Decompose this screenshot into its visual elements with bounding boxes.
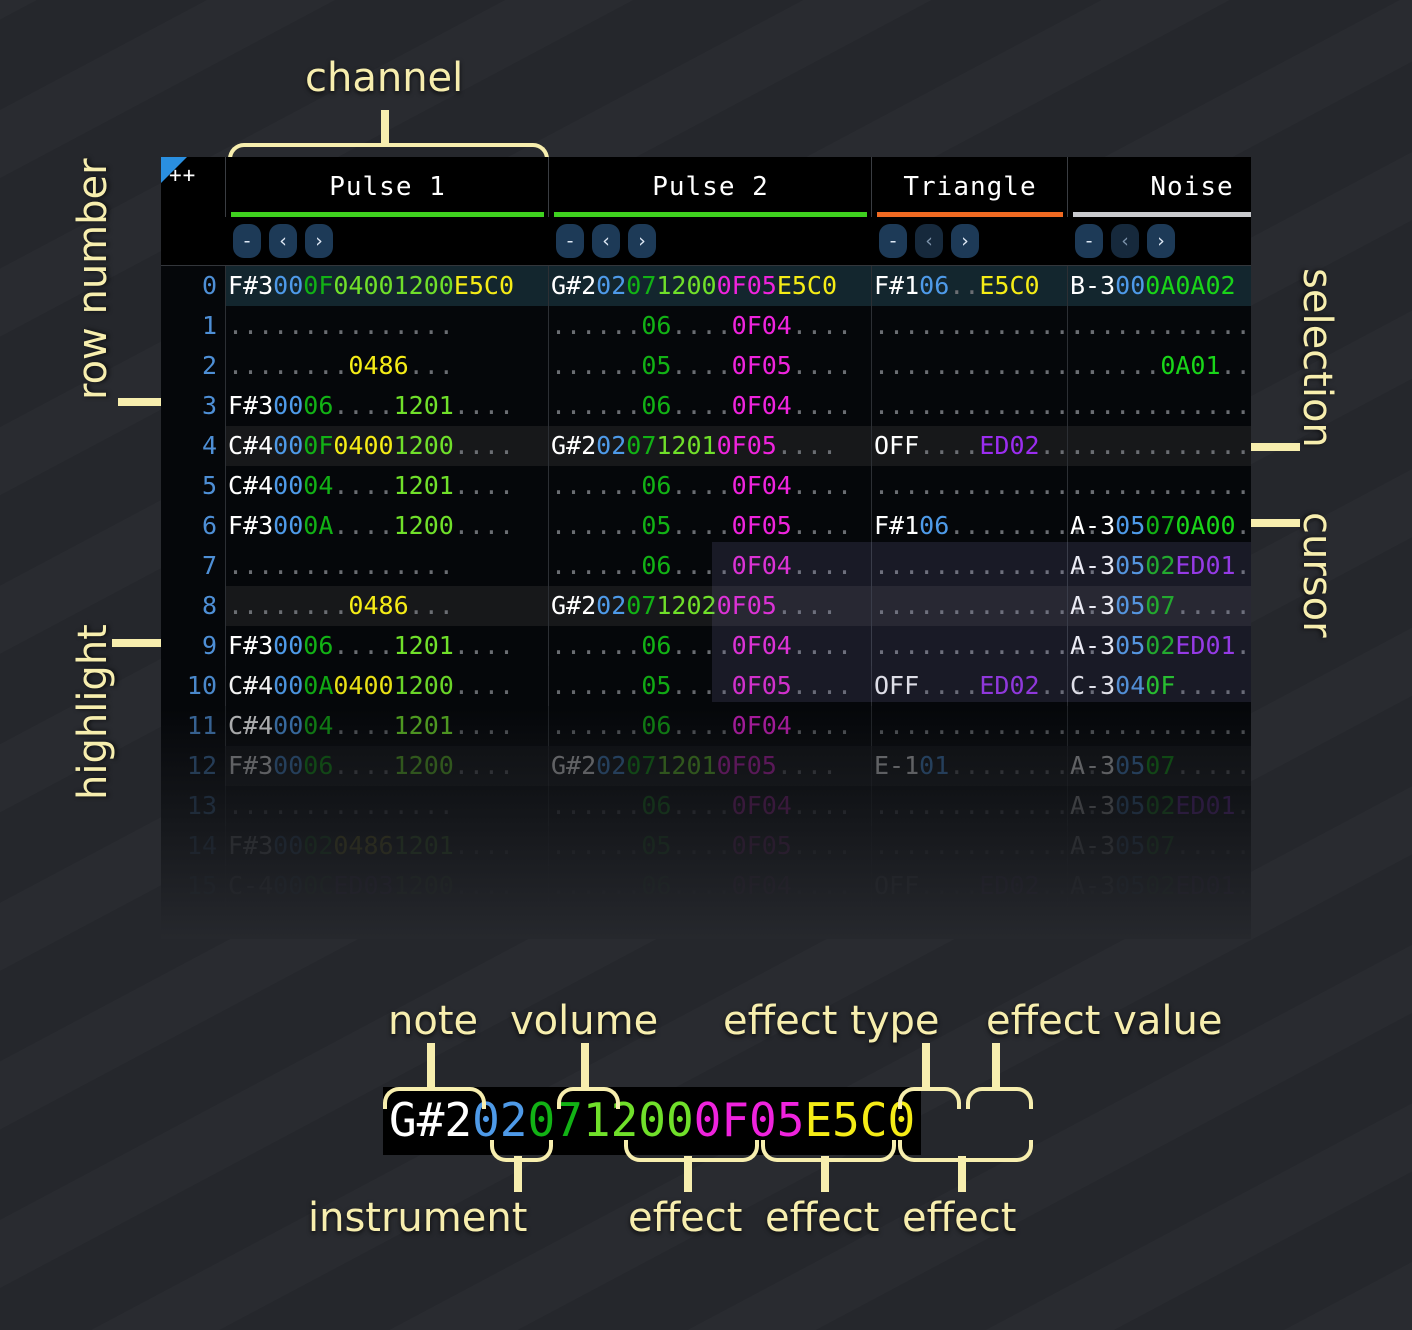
legend-leader-effect1 [684, 1156, 692, 1192]
pattern-cell[interactable]: C-4000CED031200.... [225, 866, 548, 906]
cell-token-dot: .. [1236, 791, 1251, 820]
table-row[interactable]: 0F#3000F04001200E5C0G#2020712000F05E5C0F… [161, 266, 1251, 306]
row-cells: ........0486.........05....0F05.........… [225, 346, 1251, 386]
pattern-cell[interactable]: F#30006....1201.... [225, 386, 548, 426]
cell-token-dot: .... [792, 351, 852, 380]
table-row[interactable]: 1.....................06....0F04........… [161, 306, 1251, 346]
mute-button[interactable]: - [233, 224, 261, 258]
cell-token-vol: 06 [641, 311, 671, 340]
cell-token-dot: ...... [551, 551, 641, 580]
pattern-cell[interactable]: C#40004....1201.... [225, 466, 548, 506]
cell-token-vol: 06 [303, 391, 333, 420]
cell-token-dot: ...... [551, 311, 641, 340]
pattern-cell[interactable]: ......06....0F04.... [548, 386, 871, 426]
channel-name: Noise [1150, 172, 1233, 202]
channel-controls-pulse-1: -‹› [233, 219, 333, 263]
cell-token-inst: 05 [1115, 591, 1145, 620]
legend-leader-effect3 [958, 1156, 966, 1192]
pattern-cell[interactable]: ............... [1067, 306, 1251, 346]
row-cells: F#3000A....1200..........05....0F05....F… [225, 506, 1251, 546]
next-button[interactable]: › [951, 224, 979, 258]
pattern-cell[interactable]: ......05....0F05.... [548, 346, 871, 386]
cell-token-inst: 00 [273, 871, 303, 900]
cell-token-fx3: 0400 [333, 431, 393, 460]
pattern-cell[interactable]: ............... [871, 466, 1067, 506]
pattern-cell[interactable]: A-30507...... [1067, 826, 1251, 866]
pattern-cell[interactable]: ......06....0F04.... [548, 546, 871, 586]
row-cells: C#4000A04001200..........05....0F05....O… [225, 666, 1251, 706]
cell-token-inst: 05 [1115, 511, 1145, 540]
channel-name: Triangle [903, 172, 1036, 202]
cell-token-dot: .... [333, 471, 393, 500]
pattern-cell[interactable]: G#2020712010F05.... [548, 746, 871, 786]
pattern-cell[interactable]: A-30502ED01.. [1067, 786, 1251, 826]
cell-token-dot: .... [919, 671, 979, 700]
cell-token-note: A-3 [1070, 751, 1115, 780]
cell-token-inst: 00 [273, 711, 303, 740]
mute-button[interactable]: - [556, 224, 584, 258]
legend-brace-effect-value [966, 1087, 1033, 1109]
cell-token-dot: ...... [551, 391, 641, 420]
cell-token-vol: 0F [303, 271, 333, 300]
prev-button[interactable]: ‹ [1111, 224, 1139, 258]
cell-token-dot: .... [792, 471, 852, 500]
cell-token-vol: 04 [303, 711, 333, 740]
channel-header-pulse-2[interactable]: Pulse 2 [548, 157, 872, 217]
cell-token-dot: .... [333, 391, 393, 420]
cell-token-vol: 05 [641, 671, 671, 700]
annotation-selection: selection [1294, 268, 1340, 448]
pattern-cell[interactable]: ............... [871, 346, 1067, 386]
table-row[interactable]: 5C#40004....1201..........06....0F04....… [161, 466, 1251, 506]
cell-token-vol: 07 [626, 431, 656, 460]
cell-token-fx3: 0400 [333, 671, 393, 700]
table-row[interactable]: 15C-4000CED031200..........06....0F04...… [161, 866, 1251, 906]
cell-token-vol: 02 [1145, 631, 1175, 660]
row-cells: F#30006....1200....G#2020712010F05....E-… [225, 746, 1251, 786]
cell-token-fx1: 1201 [394, 711, 454, 740]
legend-label-instrument: instrument [308, 1195, 527, 1241]
cell-token-dot: .. [1236, 511, 1251, 540]
cell-token-fx2: 0F05 [717, 431, 777, 460]
table-row[interactable]: 3F#30006....1201..........06....0F04....… [161, 386, 1251, 426]
cell-token-fx2: 0F04 [732, 551, 792, 580]
cell-token-note: C-4 [228, 871, 273, 900]
pattern-cell[interactable]: ............... [871, 546, 1067, 586]
cell-token-dot: ........ [228, 351, 348, 380]
channel-name: Pulse 1 [329, 172, 446, 202]
cell-token-note: G#2 [551, 431, 596, 460]
pattern-cell[interactable]: ......06....0F04.... [548, 706, 871, 746]
pattern-cell[interactable]: E-101.......... [871, 746, 1067, 786]
pattern-cell[interactable]: ......06....0F04.... [548, 786, 871, 826]
annotation-highlight: highlight [70, 624, 116, 800]
cell-token-inst: 05 [1115, 751, 1145, 780]
pattern-cell[interactable]: ............... [871, 386, 1067, 426]
cell-token-dot: ............... [874, 311, 1100, 340]
cell-token-fx2: 0F05 [732, 351, 792, 380]
cell-token-fxp: ED01 [1175, 551, 1235, 580]
cell-token-dot: ............... [228, 791, 454, 820]
pattern-cell[interactable]: ............... [871, 306, 1067, 346]
pattern-cell[interactable]: ............... [871, 586, 1067, 626]
cell-token-dot: .... [792, 791, 852, 820]
cell-token-dot: ............... [874, 631, 1100, 660]
row-number: 12 [161, 746, 217, 786]
table-row[interactable]: 12F#30006....1200....G#2020712010F05....… [161, 746, 1251, 786]
cell-token-note: F#3 [228, 391, 273, 420]
pattern-cell[interactable]: G#2020712020F05.... [548, 586, 871, 626]
mute-button[interactable]: - [879, 224, 907, 258]
cell-token-note: A-3 [1070, 591, 1115, 620]
cell-token-inst: 00 [273, 671, 303, 700]
cell-token-fxp: ED02 [979, 431, 1039, 460]
cell-token-note: OFF [874, 431, 919, 460]
pattern-cell[interactable]: ......06....0F04.... [548, 466, 871, 506]
cell-token-dot: .... [454, 631, 514, 660]
cell-token-fxp: ED01 [1175, 871, 1235, 900]
pattern-cell[interactable]: ............... [871, 626, 1067, 666]
cell-token-vol: 04 [303, 471, 333, 500]
next-button[interactable]: › [305, 224, 333, 258]
cell-token-inst: 05 [1115, 791, 1145, 820]
table-row[interactable]: 14F#3000204861201..........05....0F05...… [161, 826, 1251, 866]
legend-label-effect-3: effect [902, 1195, 1016, 1241]
cell-token-fxp: ED02 [979, 871, 1039, 900]
row-cells: C#4000F04001200....G#2020712010F05....OF… [225, 426, 1251, 466]
cell-token-dot: ............... [874, 351, 1100, 380]
cell-token-fx2: 0F05 [732, 511, 792, 540]
cell-token-fx1: 1201 [656, 751, 716, 780]
pattern-cell[interactable]: ............... [225, 306, 548, 346]
pattern-cell[interactable]: ......05....0F05.... [548, 666, 871, 706]
annotation-cursor: cursor [1294, 512, 1340, 638]
row-number: 10 [161, 666, 217, 706]
cell-token-note: C#4 [228, 471, 273, 500]
table-row[interactable]: 10C#4000A04001200..........05....0F05...… [161, 666, 1251, 706]
cell-token-fxg: 0A [1145, 271, 1175, 300]
cell-token-note: A-3 [1070, 511, 1115, 540]
cell-token-vol: 02 [1145, 871, 1175, 900]
pattern-cell[interactable]: A-30507...... [1067, 746, 1251, 786]
cell-token-dot: ...... [551, 831, 641, 860]
cell-token-dot: ............... [874, 391, 1100, 420]
cell-token-note: F#3 [228, 271, 273, 300]
cell-token-fx2: 0F05 [732, 671, 792, 700]
cell-token-inst: 06 [919, 511, 949, 540]
cell-token-vol: 06 [303, 631, 333, 660]
pattern-cell[interactable]: F#3000204861201.... [225, 826, 548, 866]
cell-token-note: F#3 [228, 751, 273, 780]
cell-token-dot: .... [671, 631, 731, 660]
cell-token-dot: .. [949, 271, 979, 300]
cell-token-fx1: 1200 [394, 871, 454, 900]
cell-token-inst: 05 [1115, 631, 1145, 660]
channel-name: Pulse 2 [652, 172, 769, 202]
pattern-cell[interactable]: A-30502ED01.. [1067, 866, 1251, 906]
pattern-cell[interactable]: G#2020712010F05.... [548, 426, 871, 466]
cell-token-dot: .... [777, 751, 837, 780]
cell-token-dot: .... [333, 751, 393, 780]
row-cells: F#30006....1201..........06....0F04.....… [225, 626, 1251, 666]
cell-token-note: F#3 [228, 511, 273, 540]
pattern-cell[interactable]: ............... [871, 786, 1067, 826]
cell-token-inst: 02 [596, 271, 626, 300]
table-row[interactable]: 2........0486.........05....0F05........… [161, 346, 1251, 386]
legend-leader-effect-type [922, 1043, 930, 1089]
cell-token-fxp: ED01 [1175, 631, 1235, 660]
cell-token-fx2: 0F04 [732, 871, 792, 900]
cell-token-dot: .... [792, 711, 852, 740]
cell-token-inst: 00 [273, 431, 303, 460]
cell-token-vol: 06 [641, 791, 671, 820]
pattern-cell[interactable]: ............... [1067, 426, 1251, 466]
cell-token-dot: ...... [1175, 751, 1251, 780]
cell-token-vol: 05 [641, 831, 671, 860]
cell-token-vol: 06 [641, 471, 671, 500]
pattern-cell[interactable]: C#4000F04001200.... [225, 426, 548, 466]
pattern-cell[interactable]: ............... [1067, 466, 1251, 506]
cell-token-fx3: 0486 [348, 591, 408, 620]
pattern-cell[interactable]: F#106..E5C0 [871, 266, 1067, 306]
legend-leader-effect-value [992, 1043, 1000, 1089]
pattern-cell[interactable]: C-3040F...... [1067, 666, 1251, 706]
pattern-cell[interactable]: OFF....ED02.... [871, 866, 1067, 906]
cell-token-dot: .. [1236, 551, 1251, 580]
cell-token-vol: 06 [641, 631, 671, 660]
cell-token-fx1: 1201 [394, 631, 454, 660]
cell-token-note: B-3 [1070, 271, 1115, 300]
cell-token-note: F#1 [874, 511, 919, 540]
cell-token-vol: 07 [1145, 591, 1175, 620]
cell-token-fx1: 1201 [394, 471, 454, 500]
legend-token-fx2: 0F05 [694, 1093, 805, 1147]
cell-token-vol: 02 [1145, 551, 1175, 580]
pattern-cell[interactable]: A-30502ED01.. [1067, 546, 1251, 586]
channel-header-pulse-1[interactable]: Pulse 1 [225, 157, 549, 217]
pattern-cell[interactable]: ............... [1067, 386, 1251, 426]
cell-token-dot: .... [792, 391, 852, 420]
row-number: 6 [161, 506, 217, 546]
cell-token-dot: .... [1221, 351, 1251, 380]
cell-token-dot: .. [1236, 631, 1251, 660]
pattern-cell[interactable]: ........0486... [225, 346, 548, 386]
cell-token-dot: .... [919, 431, 979, 460]
channel-header-triangle[interactable]: Triangle [871, 157, 1068, 217]
cell-token-dot: .... [333, 711, 393, 740]
row-number: 7 [161, 546, 217, 586]
cell-token-dot: ........ [228, 591, 348, 620]
cell-token-vol: 0C [303, 871, 333, 900]
cell-token-fx3: 0486 [348, 351, 408, 380]
cell-token-fx2: 0F04 [732, 471, 792, 500]
cell-token-dot: ............... [874, 791, 1100, 820]
cell-token-dot: .... [333, 631, 393, 660]
cell-token-note: C#4 [228, 671, 273, 700]
table-row[interactable]: 9F#30006....1201..........06....0F04....… [161, 626, 1251, 666]
cell-token-dot: .. [1236, 871, 1251, 900]
cell-token-note: C#4 [228, 711, 273, 740]
legend-leader-effect2 [821, 1156, 829, 1192]
row-number: 2 [161, 346, 217, 386]
pattern-cell[interactable]: ......0A01.... [1067, 346, 1251, 386]
cell-token-dot: .... [671, 351, 731, 380]
cell-token-vol: 06 [303, 751, 333, 780]
pattern-cell[interactable]: ......06....0F04.... [548, 866, 871, 906]
cell-token-dot: ...... [551, 671, 641, 700]
prev-button[interactable]: ‹ [915, 224, 943, 258]
cell-token-fx1: 1201 [394, 831, 454, 860]
pattern-editor[interactable]: ++ Pulse 1Pulse 2TriangleNoise -‹›-‹›-‹›… [161, 157, 1251, 939]
legend-label-effect-value: effect value [986, 998, 1222, 1044]
pattern-cell[interactable]: ......06....0F04.... [548, 306, 871, 346]
cell-token-inst: 06 [919, 271, 949, 300]
channel-controls-triangle: -‹› [879, 219, 979, 263]
cell-token-vol: 05 [641, 511, 671, 540]
legend-label-effect-type: effect type [723, 998, 940, 1044]
cell-token-inst: 02 [596, 431, 626, 460]
cell-token-fx1: 1200 [394, 431, 454, 460]
table-row[interactable]: 6F#3000A....1200..........05....0F05....… [161, 506, 1251, 546]
annotation-row-number: row number [70, 158, 116, 400]
pattern-cell[interactable]: F#30006....1201.... [225, 626, 548, 666]
pattern-cell[interactable]: C#4000A04001200.... [225, 666, 548, 706]
pattern-cell[interactable]: C#40004....1201.... [225, 706, 548, 746]
row-number: 0 [161, 266, 217, 306]
cell-token-fx1: 1202 [656, 591, 716, 620]
cell-token-vol: 07 [626, 271, 656, 300]
pattern-cell[interactable]: OFF....ED02.... [871, 666, 1067, 706]
row-cells: F#3000F04001200E5C0G#2020712000F05E5C0F#… [225, 266, 1251, 306]
next-button[interactable]: › [628, 224, 656, 258]
pattern-cell[interactable]: A-30502ED01.. [1067, 626, 1251, 666]
cell-token-note: A-3 [1070, 831, 1115, 860]
cell-token-inst: 00 [273, 831, 303, 860]
pattern-cell[interactable]: F#3000A....1200.... [225, 506, 548, 546]
cell-token-note: OFF [874, 871, 919, 900]
cell-token-inst: 00 [273, 511, 303, 540]
pattern-cell[interactable]: B-3000A0A02 [1067, 266, 1251, 306]
cell-token-dot: .... [671, 391, 731, 420]
cell-token-fx2: 0F05 [717, 271, 777, 300]
pattern-cell[interactable]: ......05....0F05.... [548, 506, 871, 546]
cell-token-note: A-3 [1070, 871, 1115, 900]
cell-token-note: A-3 [1070, 791, 1115, 820]
cell-token-dot: ...... [1175, 671, 1251, 700]
cell-token-note: A-3 [1070, 631, 1115, 660]
pattern-cell[interactable]: ........0486... [225, 586, 548, 626]
pattern-cell[interactable]: A-30507...... [1067, 586, 1251, 626]
cell-token-vol: 02 [1145, 791, 1175, 820]
legend-label-volume: volume [510, 998, 658, 1044]
pattern-cell[interactable]: ......05....0F05.... [548, 826, 871, 866]
table-row[interactable]: 11C#40004....1201..........06....0F04...… [161, 706, 1251, 746]
cell-token-vol: 06 [641, 871, 671, 900]
table-row[interactable]: 8........0486...G#2020712020F05.........… [161, 586, 1251, 626]
next-button[interactable]: › [1147, 224, 1175, 258]
cell-token-dot: .... [792, 831, 852, 860]
row-cells: .....................06....0F04.........… [225, 786, 1251, 826]
pattern-cell[interactable]: ............... [225, 786, 548, 826]
mute-button[interactable]: - [1075, 224, 1103, 258]
cell-token-inst: 02 [596, 591, 626, 620]
cell-token-dot: ... [409, 591, 454, 620]
cell-token-dot: ............... [1070, 311, 1251, 340]
table-row[interactable]: 7.....................06....0F04........… [161, 546, 1251, 586]
cell-token-inst: 00 [273, 391, 303, 420]
cell-token-fx3: E5C0 [979, 271, 1039, 300]
cell-token-dot: .... [454, 751, 514, 780]
cell-token-fx1: 1200 [394, 671, 454, 700]
pattern-cell[interactable]: F#30006....1200.... [225, 746, 548, 786]
channel-controls-pulse-2: -‹› [556, 219, 656, 263]
cell-token-dot: .... [454, 431, 514, 460]
prev-button[interactable]: ‹ [592, 224, 620, 258]
cell-token-dot: ...... [1175, 831, 1251, 860]
cell-token-dot: ............... [874, 591, 1100, 620]
table-row[interactable]: 13.....................06....0F04.......… [161, 786, 1251, 826]
cell-token-dot: ...... [551, 351, 641, 380]
pattern-cell[interactable]: A-305070A00.. [1067, 506, 1251, 546]
cell-token-fxg: 0A00 [1175, 511, 1235, 540]
row-cells: C#40004....1201..........06....0F04.....… [225, 466, 1251, 506]
row-cells: F#3000204861201..........05....0F05.....… [225, 826, 1251, 866]
cell-token-inst: 01 [919, 751, 949, 780]
cell-token-inst: 00 [273, 751, 303, 780]
cell-token-fx1: 1200 [394, 511, 454, 540]
cell-token-vol: 06 [641, 391, 671, 420]
cell-token-dot: ...... [1070, 351, 1160, 380]
cell-token-dot: ...... [1175, 591, 1251, 620]
row-number: 15 [161, 866, 217, 906]
rownumber-column-header: ++ [169, 163, 225, 187]
pattern-cell[interactable]: ............... [1067, 706, 1251, 746]
cell-token-inst: 00 [273, 271, 303, 300]
pattern-cell[interactable]: F#106.......... [871, 506, 1067, 546]
channel-header-noise[interactable]: Noise [1067, 157, 1251, 217]
pattern-cell[interactable]: ............... [871, 826, 1067, 866]
pattern-cell[interactable]: ......06....0F04.... [548, 626, 871, 666]
cell-token-inst: 05 [1115, 831, 1145, 860]
row-number: 14 [161, 826, 217, 866]
cell-token-dot: ............... [1070, 471, 1251, 500]
table-row[interactable]: 4C#4000F04001200....G#2020712010F05....O… [161, 426, 1251, 466]
cell-token-fxp: ED02 [979, 671, 1039, 700]
pattern-cell[interactable]: OFF....ED02.... [871, 426, 1067, 466]
cell-token-inst: 00 [273, 631, 303, 660]
cell-token-dot: ............... [874, 711, 1100, 740]
cell-token-fx2: 0F05 [717, 751, 777, 780]
cell-token-fx2: 0F04 [732, 391, 792, 420]
pattern-rows[interactable]: 0F#3000F04001200E5C0G#2020712000F05E5C0F… [161, 266, 1251, 906]
cell-token-dot: ............... [228, 311, 454, 340]
legend-leader-note [427, 1043, 435, 1089]
cell-token-dot: .... [454, 671, 514, 700]
pattern-cell[interactable]: G#2020712000F05E5C0 [548, 266, 871, 306]
cell-token-fx3: 0486 [333, 831, 393, 860]
pattern-cell[interactable]: F#3000F04001200E5C0 [225, 266, 548, 306]
cell-token-dot: .... [671, 311, 731, 340]
pattern-cell[interactable]: ............... [871, 706, 1067, 746]
cell-token-dot: .... [792, 671, 852, 700]
cell-token-dot: .... [671, 711, 731, 740]
cell-token-dot: .... [671, 791, 731, 820]
cell-token-fxp: ED03 [333, 871, 393, 900]
channel-controls-noise: -‹› [1075, 219, 1175, 263]
prev-button[interactable]: ‹ [269, 224, 297, 258]
row-number: 1 [161, 306, 217, 346]
pattern-cell[interactable]: ............... [225, 546, 548, 586]
